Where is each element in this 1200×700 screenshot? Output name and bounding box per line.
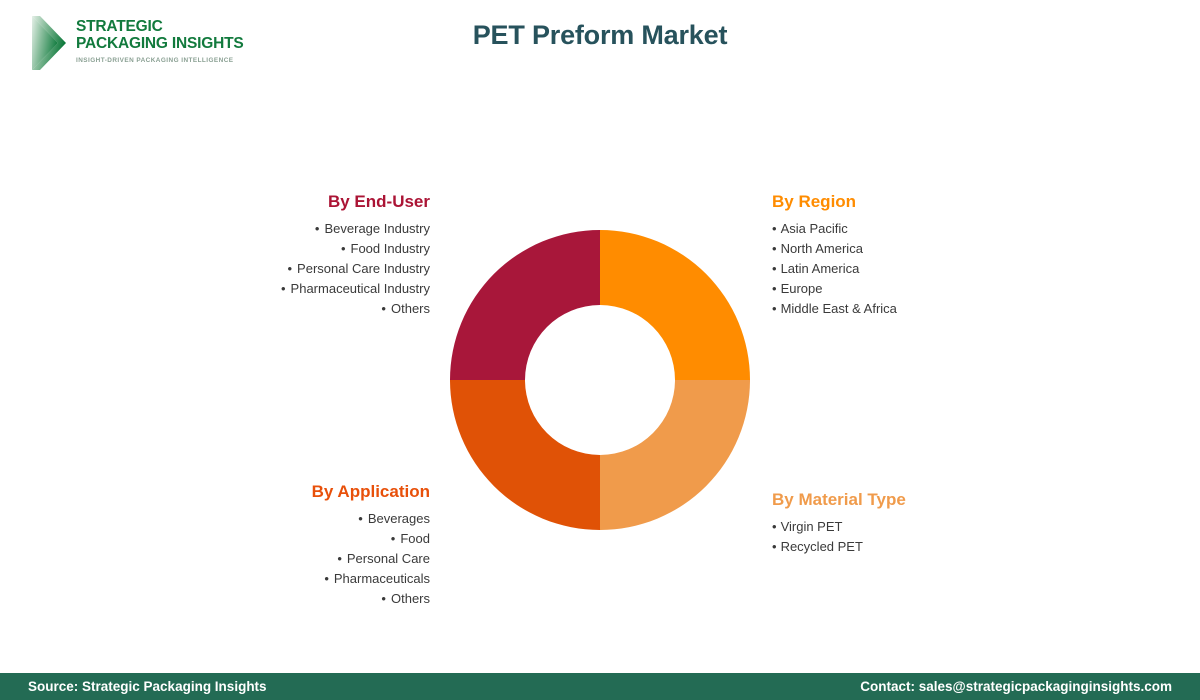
list-item: •Pharmaceutical Industry	[180, 279, 430, 299]
segment-region-title: By Region	[772, 192, 1052, 212]
list-item-label: Food Industry	[351, 241, 431, 256]
list-item: •Europe	[772, 279, 1052, 299]
donut-slice-material-type	[600, 380, 750, 530]
list-item: •Beverages	[180, 509, 430, 529]
segment-application-title: By Application	[180, 482, 430, 502]
list-item-label: Recycled PET	[781, 539, 863, 554]
footer-contact[interactable]: Contact: sales@strategicpackaginginsight…	[860, 679, 1172, 694]
list-item-label: Pharmaceutical Industry	[291, 281, 430, 296]
bullet-icon: •	[381, 589, 386, 609]
bullet-icon: •	[324, 569, 329, 589]
list-item-label: Beverage Industry	[324, 221, 430, 236]
list-item: •Recycled PET	[772, 537, 1052, 557]
list-item: •Latin America	[772, 259, 1052, 279]
list-item-label: Others	[391, 301, 430, 316]
segment-material-type: By Material Type •Virgin PET •Recycled P…	[772, 490, 1052, 557]
footer-bar: Source: Strategic Packaging Insights Con…	[0, 673, 1200, 700]
list-item: •Personal Care Industry	[180, 259, 430, 279]
bullet-icon: •	[772, 517, 777, 537]
bullet-icon: •	[358, 509, 363, 529]
bullet-icon: •	[337, 549, 342, 569]
list-item-label: Latin America	[781, 261, 860, 276]
list-item: •Middle East & Africa	[772, 299, 1052, 319]
list-item-label: North America	[781, 241, 863, 256]
segment-region-list: •Asia Pacific •North America •Latin Amer…	[772, 219, 1052, 319]
bullet-icon: •	[772, 537, 777, 557]
list-item-label: Food	[400, 531, 430, 546]
segment-end-user-list: •Beverage Industry •Food Industry •Perso…	[180, 219, 430, 319]
list-item-label: Pharmaceuticals	[334, 571, 430, 586]
donut-slice-end-user	[450, 230, 600, 380]
segment-material-type-list: •Virgin PET •Recycled PET	[772, 517, 1052, 557]
bullet-icon: •	[772, 299, 777, 319]
list-item: •Food	[180, 529, 430, 549]
list-item: •Asia Pacific	[772, 219, 1052, 239]
bullet-icon: •	[391, 529, 396, 549]
list-item-label: Europe	[781, 281, 823, 296]
segment-region: By Region •Asia Pacific •North America •…	[772, 192, 1052, 319]
bullet-icon: •	[281, 279, 286, 299]
bullet-icon: •	[381, 299, 386, 319]
bullet-icon: •	[315, 219, 320, 239]
list-item: •Pharmaceuticals	[180, 569, 430, 589]
donut-chart	[450, 230, 750, 530]
bullet-icon: •	[772, 259, 777, 279]
list-item: •Beverage Industry	[180, 219, 430, 239]
list-item: •Others	[180, 299, 430, 319]
bullet-icon: •	[341, 239, 346, 259]
infographic-page: STRATEGIC PACKAGING INSIGHTS INSIGHT-DRI…	[0, 0, 1200, 700]
list-item-label: Middle East & Africa	[781, 301, 897, 316]
bullet-icon: •	[772, 219, 777, 239]
bullet-icon: •	[772, 239, 777, 259]
logo-tagline: INSIGHT-DRIVEN PACKAGING INTELLIGENCE	[76, 57, 266, 64]
segment-application-list: •Beverages •Food •Personal Care •Pharmac…	[180, 509, 430, 609]
footer-source: Source: Strategic Packaging Insights	[28, 679, 267, 694]
list-item-label: Personal Care	[347, 551, 430, 566]
list-item-label: Others	[391, 591, 430, 606]
list-item: •Others	[180, 589, 430, 609]
list-item: •North America	[772, 239, 1052, 259]
bullet-icon: •	[772, 279, 777, 299]
segment-end-user-title: By End-User	[180, 192, 430, 212]
bullet-icon: •	[287, 259, 292, 279]
donut-slice-region	[600, 230, 750, 380]
page-title: PET Preform Market	[0, 20, 1200, 51]
list-item: •Personal Care	[180, 549, 430, 569]
segment-application: By Application •Beverages •Food •Persona…	[180, 482, 430, 609]
list-item: •Virgin PET	[772, 517, 1052, 537]
segment-end-user: By End-User •Beverage Industry •Food Ind…	[180, 192, 430, 319]
list-item: •Food Industry	[180, 239, 430, 259]
list-item-label: Beverages	[368, 511, 430, 526]
list-item-label: Virgin PET	[781, 519, 843, 534]
list-item-label: Personal Care Industry	[297, 261, 430, 276]
donut-slice-application	[450, 380, 600, 530]
list-item-label: Asia Pacific	[781, 221, 848, 236]
segment-material-type-title: By Material Type	[772, 490, 1052, 510]
